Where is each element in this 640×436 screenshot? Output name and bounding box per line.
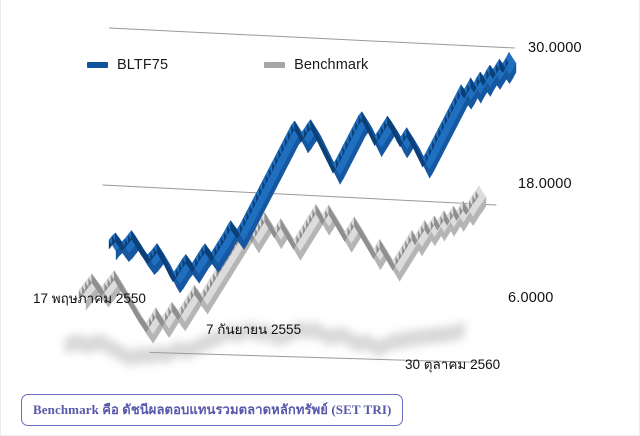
gridlines (102, 28, 515, 362)
chart-page: BLTF75 Benchmark 30.0000 18.0000 6.0000 … (0, 0, 640, 436)
series-ribbon-bltf75 (109, 52, 516, 293)
benchmark-footnote: Benchmark คือ ดัชนีผลตอบแทนรวมตลาดหลักทร… (21, 394, 403, 426)
legend-label-benchmark: Benchmark (294, 57, 368, 73)
axis-value-middle: 18.0000 (518, 176, 572, 192)
date-label-end: 30 ตุลาคม 2560 (405, 353, 500, 375)
chart-legend: BLTF75 Benchmark (87, 57, 368, 73)
line-swatch-gray-icon (264, 62, 285, 68)
axis-value-top: 30.0000 (528, 40, 582, 56)
legend-item-benchmark[interactable]: Benchmark (264, 57, 368, 73)
legend-label-bltf75: BLTF75 (117, 57, 168, 73)
legend-item-bltf75[interactable]: BLTF75 (87, 57, 168, 73)
date-label-middle: 7 กันยายน 2555 (206, 318, 301, 340)
axis-value-bottom: 6.0000 (508, 290, 554, 306)
date-label-start: 17 พฤษภาคม 2550 (33, 287, 146, 309)
benchmark-footnote-text: Benchmark คือ ดัชนีผลตอบแทนรวมตลาดหลักทร… (33, 402, 391, 417)
line-swatch-blue-icon (87, 62, 108, 68)
